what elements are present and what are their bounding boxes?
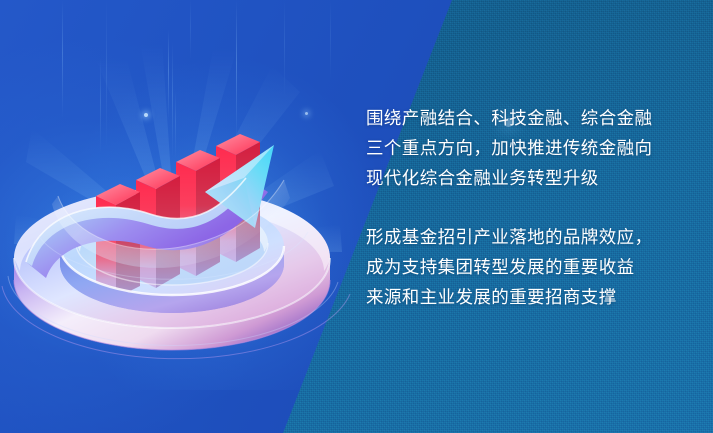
paragraph-2-line-3: 来源和主业发展的重要招商支撑: [366, 287, 617, 307]
paragraph-2: 形成基金招引产业落地的品牌效应， 成为支持集团转型发展的重要收益 来源和主业发展…: [366, 222, 696, 312]
paragraph-2-line-2: 成为支持集团转型发展的重要收益: [366, 257, 635, 277]
banner-stage: 围绕产融结合、科技金融、综合金融 三个重点方向，加快推进传统金融向 现代化综合金…: [0, 0, 713, 433]
paragraph-1: 围绕产融结合、科技金融、综合金融 三个重点方向，加快推进传统金融向 现代化综合金…: [366, 103, 696, 193]
paragraph-1-line-2: 三个重点方向，加快推进传统金融向: [366, 138, 652, 158]
growth-chart-illustration: [0, 0, 360, 433]
copy-block: 围绕产融结合、科技金融、综合金融 三个重点方向，加快推进传统金融向 现代化综合金…: [366, 103, 696, 312]
paragraph-2-line-1: 形成基金招引产业落地的品牌效应，: [366, 227, 652, 247]
paragraph-spacer: [366, 206, 696, 222]
paragraph-1-line-3: 现代化综合金融业务转型升级: [366, 168, 599, 188]
paragraph-1-line-1: 围绕产融结合、科技金融、综合金融: [366, 108, 652, 128]
